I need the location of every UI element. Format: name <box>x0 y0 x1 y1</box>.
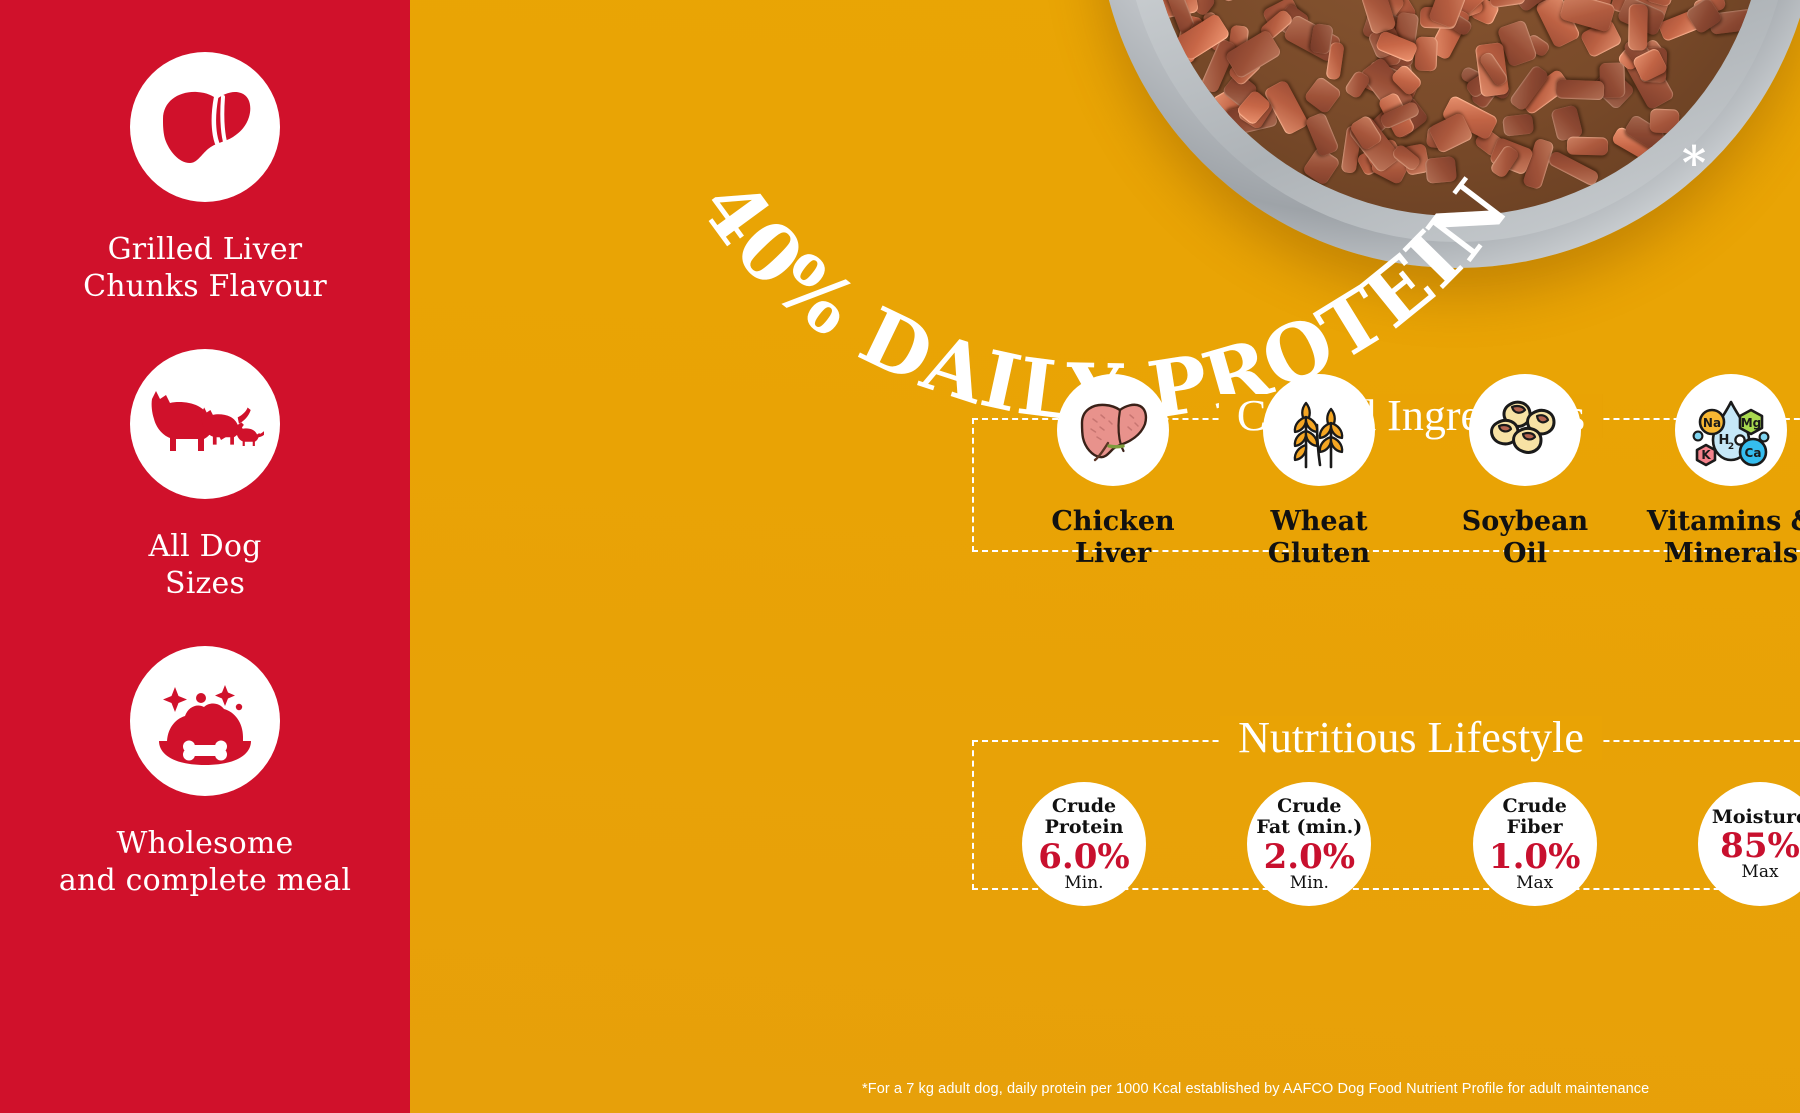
nutrition-stat-qualifier: Max <box>1516 875 1553 892</box>
vitamins-minerals-icon: Na Mg K Ca <box>1689 390 1773 470</box>
chicken-liver-icon <box>1075 397 1151 463</box>
nutrition-stat-qualifier: Max <box>1741 864 1778 881</box>
nutrition-stat-crude-fiber: Crude Fiber 1.0% Max <box>1473 782 1597 906</box>
ingredient-soybean-oil[interactable]: Soybean Oil <box>1434 374 1616 570</box>
ingredient-icon-circle <box>1263 374 1375 486</box>
ingredient-chicken-liver[interactable]: Chicken Liver <box>1022 374 1204 570</box>
ingredient-icon-circle <box>1469 374 1581 486</box>
food-chunk <box>1502 114 1534 137</box>
nutrition-stat-name: Crude Protein <box>1045 796 1124 837</box>
food-chunk <box>1220 0 1246 3</box>
feature-grilled-liver: Grilled Liver Chunks Flavour <box>0 52 410 305</box>
food-chunk <box>1567 137 1609 156</box>
feature-wholesome-meal: Wholesome and complete meal <box>0 646 410 899</box>
liver-icon <box>153 81 257 173</box>
feature-label: Wholesome and complete meal <box>59 826 351 899</box>
nutrition-row: Crude Protein 6.0% Min. Crude Fat (min.)… <box>1022 782 1800 906</box>
food-chunk <box>1628 4 1648 50</box>
product-detail-panel: 40% DAILY PROTEIN * Curated Ingredients <box>410 0 1800 1113</box>
nutrition-stat-crude-fat: Crude Fat (min.) 2.0% Min. <box>1247 782 1371 906</box>
food-chunk <box>1414 36 1438 71</box>
features-sidebar: Grilled Liver Chunks Flavour <box>0 0 410 1113</box>
nutrition-stat-moisture: Moisture 85% Max <box>1698 782 1800 906</box>
food-chunk <box>1425 156 1457 184</box>
soybean-oil-icon <box>1485 395 1565 465</box>
nutrition-stat-value: 2.0% <box>1264 840 1355 874</box>
feature-label: Grilled Liver Chunks Flavour <box>83 232 327 305</box>
feature-label: All Dog Sizes <box>148 529 261 602</box>
nutrition-stat-qualifier: Min. <box>1064 875 1103 892</box>
ingredient-label: Vitamins & Minerals <box>1647 506 1800 570</box>
ingredients-row: Chicken Liver <box>1022 374 1800 570</box>
nutrition-stat-qualifier: Min. <box>1290 875 1329 892</box>
ingredient-label: Wheat Gluten <box>1268 506 1370 570</box>
feature-all-dog-sizes: All Dog Sizes <box>0 349 410 602</box>
infographic-root: Grilled Liver Chunks Flavour <box>0 0 1800 1113</box>
ingredient-label: Chicken Liver <box>1022 506 1204 570</box>
svg-text:K: K <box>1701 448 1711 462</box>
feature-icon-circle <box>130 52 280 202</box>
headline-asterisk: * <box>1682 136 1706 190</box>
dog-sizes-icon <box>146 387 264 461</box>
food-chunk <box>1649 109 1679 134</box>
svg-text:Na: Na <box>1703 416 1721 430</box>
wheat-gluten-icon <box>1284 391 1354 469</box>
feature-icon-circle <box>130 646 280 796</box>
nutrition-stat-name: Moisture <box>1712 807 1800 828</box>
nutrition-stat-value: 1.0% <box>1489 840 1580 874</box>
nutritious-lifestyle-section: Nutritious Lifestyle Crude Protein 6.0% … <box>972 740 1800 890</box>
feature-icon-circle <box>130 349 280 499</box>
ingredients-dashed-box: Curated Ingredients <box>972 418 1800 552</box>
food-bowl-icon <box>149 671 261 771</box>
food-chunk <box>1600 63 1626 99</box>
nutrition-stat-name: Crude Fiber <box>1502 796 1566 837</box>
food-chunk <box>1548 150 1601 187</box>
ingredient-label: Soybean Oil <box>1462 506 1588 570</box>
food-chunk <box>1303 76 1342 115</box>
svg-text:Mg: Mg <box>1741 416 1762 430</box>
nutrition-stat-name: Crude Fat (min.) <box>1256 796 1362 837</box>
nutrition-stat-value: 6.0% <box>1038 840 1129 874</box>
food-chunk <box>1556 79 1605 100</box>
svg-text:2: 2 <box>1728 442 1734 452</box>
dog-food-bowl-image <box>1097 0 1800 268</box>
nutrition-dashed-box: Nutritious Lifestyle Crude Protein 6.0% … <box>972 740 1800 890</box>
ingredient-wheat-gluten[interactable]: Wheat Gluten <box>1228 374 1410 570</box>
svg-text:Ca: Ca <box>1745 446 1762 460</box>
ingredient-icon-circle: Na Mg K Ca <box>1675 374 1787 486</box>
nutrition-stat-crude-protein: Crude Protein 6.0% Min. <box>1022 782 1146 906</box>
ingredient-vitamins-minerals[interactable]: Na Mg K Ca <box>1640 374 1800 570</box>
food-chunk <box>1305 112 1340 157</box>
ingredient-icon-circle <box>1057 374 1169 486</box>
nutrition-title: Nutritious Lifestyle <box>1220 716 1602 760</box>
curated-ingredients-section: Curated Ingredients <box>972 418 1800 552</box>
footnote-text: *For a 7 kg adult dog, daily protein per… <box>862 1081 1649 1097</box>
nutrition-stat-value: 85% <box>1720 829 1800 863</box>
